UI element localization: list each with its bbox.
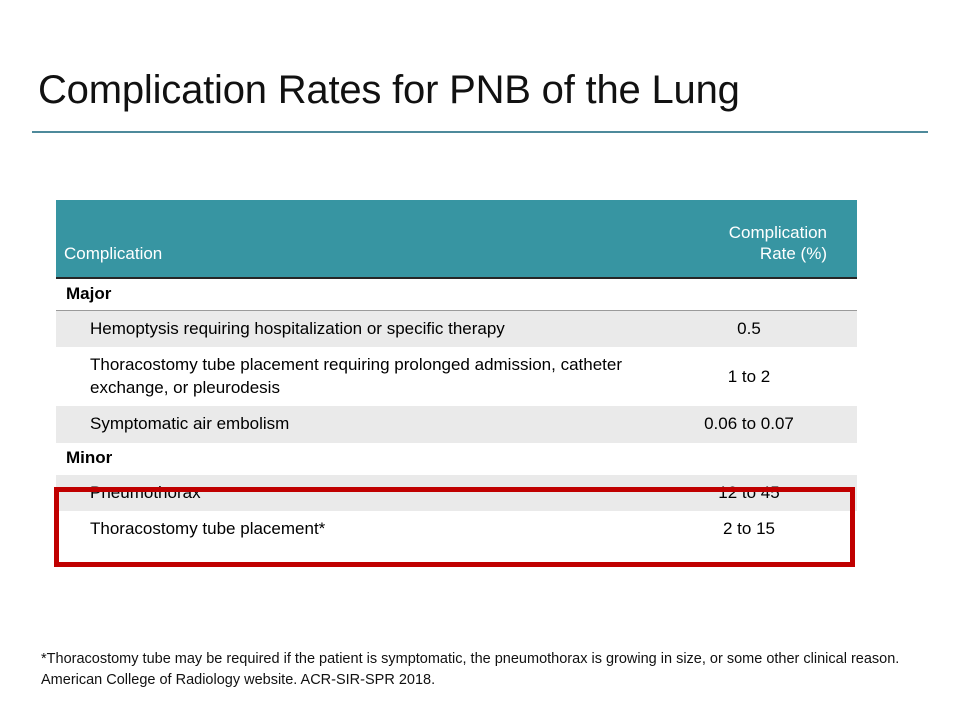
table-header-row: Complication Complication Rate (%)	[56, 200, 857, 278]
title-underline-rule	[32, 131, 928, 133]
group-row-minor: Minor	[56, 443, 857, 475]
table-row: Thoracostomy tube placement* 2 to 15	[56, 511, 857, 547]
group-rate-major	[677, 278, 857, 311]
group-label-major: Major	[56, 278, 677, 311]
table-row: Hemoptysis requiring hospitalization or …	[56, 311, 857, 348]
footnote-note: *Thoracostomy tube may be required if th…	[41, 650, 921, 669]
row-rate-thoracostomy-placement: 2 to 15	[677, 511, 857, 547]
column-header-rate-line-1: Complication	[677, 222, 827, 244]
row-rate-thoracostomy-prolonged: 1 to 2	[677, 347, 857, 406]
row-rate-air-embolism: 0.06 to 0.07	[677, 406, 857, 442]
column-header-complication-rate: Complication Rate (%)	[677, 200, 857, 278]
table-body: Major Hemoptysis requiring hospitalizati…	[56, 278, 857, 548]
column-header-complication: Complication	[56, 200, 677, 278]
column-header-rate-line-2: Rate (%)	[677, 243, 827, 265]
row-name-hemoptysis: Hemoptysis requiring hospitalization or …	[56, 311, 677, 348]
group-rate-minor	[677, 443, 857, 475]
complication-rates-table: Complication Complication Rate (%) Major…	[56, 200, 857, 548]
group-row-major: Major	[56, 278, 857, 311]
row-name-pneumothorax: Pneumothorax	[56, 475, 677, 511]
row-name-air-embolism: Symptomatic air embolism	[56, 406, 677, 442]
table-row: Thoracostomy tube placement requiring pr…	[56, 347, 857, 406]
row-name-thoracostomy-prolonged: Thoracostomy tube placement requiring pr…	[56, 347, 677, 406]
row-rate-hemoptysis: 0.5	[677, 311, 857, 348]
row-rate-pneumothorax: 12 to 45	[677, 475, 857, 511]
footnote-source: American College of Radiology website. A…	[41, 671, 921, 690]
table-row: Pneumothorax 12 to 45	[56, 475, 857, 511]
row-name-thoracostomy-placement: Thoracostomy tube placement*	[56, 511, 677, 547]
page-title: Complication Rates for PNB of the Lung	[38, 68, 928, 112]
table-header: Complication Complication Rate (%)	[56, 200, 857, 278]
footnote: *Thoracostomy tube may be required if th…	[41, 650, 921, 690]
group-label-minor: Minor	[56, 443, 677, 475]
table-row: Symptomatic air embolism 0.06 to 0.07	[56, 406, 857, 442]
